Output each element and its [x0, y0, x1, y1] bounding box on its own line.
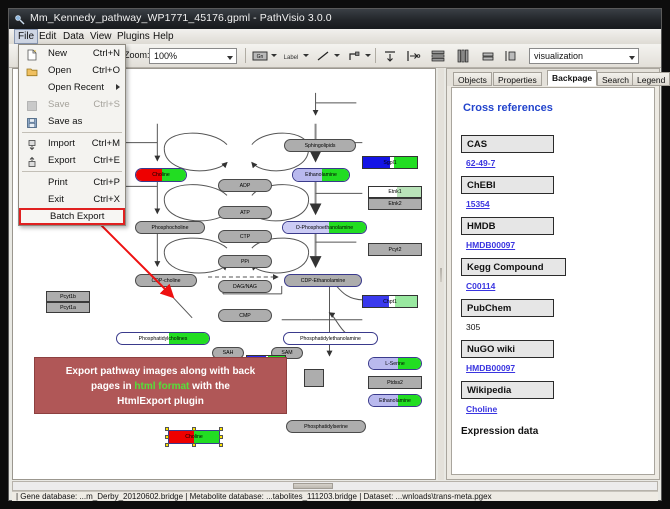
file-dropdown-menu: New Ctrl+N Open Ctrl+O Open Recent [18, 44, 126, 226]
window-title: Mm_Kennedy_pathway_WP1771_45176.gpml - P… [30, 12, 332, 24]
horizontal-scrollbar[interactable] [12, 481, 658, 491]
side-dock: Objects Properties Backpage Search Legen… [446, 68, 660, 480]
menu-separator [22, 132, 122, 133]
export-icon [26, 155, 38, 167]
xref-source-pubchem: PubChem [461, 299, 554, 317]
distribute-horizontal-tool-icon[interactable] [455, 48, 471, 64]
xref-source-hmdb: HMDB [461, 217, 554, 235]
annotation-line-2-post: with the [189, 381, 230, 392]
xref-source-kegg: Kegg Compound [461, 258, 566, 276]
annotation-highlight: html format [134, 381, 189, 392]
scrollbar-thumb[interactable] [293, 483, 333, 489]
status-text: | Gene database: ...m_Derby_20120602.bri… [16, 492, 492, 501]
menu-help[interactable]: Help [150, 30, 177, 43]
save-as-icon [26, 116, 38, 128]
open-folder-icon [26, 65, 38, 77]
line-dropdown-icon[interactable] [334, 54, 340, 57]
menu-file[interactable]: File [14, 29, 38, 44]
application-window: Mm_Kennedy_pathway_WP1771_45176.gpml - P… [8, 8, 662, 501]
backpage-panel: Cross references CAS 62-49-7 ChEBI 15354… [451, 87, 655, 475]
interaction-dropdown-icon[interactable] [365, 54, 371, 57]
interaction-tool-icon[interactable] [346, 48, 362, 64]
menu-separator [22, 171, 122, 172]
menu-item-save-as[interactable]: Save as [19, 113, 125, 130]
status-bar: | Gene database: ...m_Derby_20120602.bri… [12, 491, 658, 501]
title-bar: Mm_Kennedy_pathway_WP1771_45176.gpml - P… [9, 9, 661, 30]
xref-value-wikipedia[interactable]: Choline [466, 404, 497, 414]
menu-item-open-recent[interactable]: Open Recent [19, 79, 125, 96]
save-icon [26, 99, 38, 111]
import-icon [26, 138, 38, 150]
xref-value-nugo[interactable]: HMDB00097 [466, 363, 515, 373]
xref-value-hmdb[interactable]: HMDB00097 [466, 240, 515, 250]
label-dropdown-icon[interactable] [303, 54, 309, 57]
screenshot-root: Mm_Kennedy_pathway_WP1771_45176.gpml - P… [0, 0, 670, 509]
annotation-line-3: HtmlExport plugin [117, 396, 204, 407]
gene-product-tool-icon[interactable]: Gn [252, 48, 268, 64]
menu-item-import[interactable]: Import Ctrl+M [19, 135, 125, 152]
annotation-line-1: Export pathway images along with back [66, 366, 256, 377]
dock-tabstrip: Objects Properties Backpage Search Legen… [447, 69, 659, 86]
zoom-value: 100% [154, 51, 177, 61]
svg-text:Gn: Gn [257, 54, 264, 60]
tab-properties[interactable]: Properties [493, 72, 542, 86]
toolbar-separator [245, 48, 246, 63]
menu-item-export[interactable]: Export Ctrl+E [19, 152, 125, 169]
tab-backpage[interactable]: Backpage [547, 70, 597, 86]
menu-data[interactable]: Data [60, 30, 87, 43]
zoom-combobox[interactable]: 100% [149, 48, 237, 64]
xref-source-cas: CAS [461, 135, 554, 153]
expression-data-heading: Expression data [461, 426, 538, 437]
label-tool-icon[interactable]: Label [283, 48, 299, 64]
tab-search[interactable]: Search [597, 72, 634, 86]
svg-text:Label: Label [284, 55, 299, 61]
xref-value-kegg[interactable]: C00114 [466, 281, 495, 291]
pathvisio-icon [14, 13, 26, 25]
line-tool-icon[interactable] [315, 48, 331, 64]
menu-item-batch-export[interactable]: Batch Export [19, 208, 125, 225]
canvas-dock-splitter[interactable] [438, 68, 444, 480]
menu-item-save: Save Ctrl+S [19, 96, 125, 113]
menu-bar: File Edit Data View Plugins Help [9, 29, 661, 45]
menu-item-open[interactable]: Open Ctrl+O [19, 62, 125, 79]
same-width-tool-icon[interactable] [480, 48, 496, 64]
annotation-text: Export pathway images along with back pa… [41, 364, 280, 409]
menu-item-print[interactable]: Print Ctrl+P [19, 174, 125, 191]
annotation-callout: Export pathway images along with back pa… [34, 357, 287, 414]
gene-product-dropdown-icon[interactable] [271, 54, 277, 57]
xref-value-cas[interactable]: 62-49-7 [466, 158, 495, 168]
menu-plugins[interactable]: Plugins [114, 30, 153, 43]
chevron-down-icon [629, 56, 635, 60]
menu-item-exit[interactable]: Exit Ctrl+X [19, 191, 125, 208]
tab-objects[interactable]: Objects [453, 72, 492, 86]
same-height-tool-icon[interactable] [503, 48, 519, 64]
menu-view[interactable]: View [87, 30, 115, 43]
chevron-down-icon [227, 56, 233, 60]
align-top-tool-icon[interactable] [382, 48, 398, 64]
visualization-value: visualization [534, 51, 583, 61]
xref-source-chebi: ChEBI [461, 176, 554, 194]
toolbar-separator [375, 48, 376, 63]
xref-source-wikipedia: Wikipedia [461, 381, 554, 399]
distribute-vertical-tool-icon[interactable] [430, 48, 446, 64]
new-file-icon [26, 48, 38, 60]
visualization-combobox[interactable]: visualization [529, 48, 639, 64]
menu-edit[interactable]: Edit [36, 30, 59, 43]
xref-value-pubchem: 305 [466, 322, 480, 332]
zoom-label: Zoom: [124, 50, 150, 60]
xref-value-chebi[interactable]: 15354 [466, 199, 490, 209]
menu-item-new[interactable]: New Ctrl+N [19, 45, 125, 62]
align-left-tool-icon[interactable] [405, 48, 421, 64]
submenu-chevron-icon [116, 84, 120, 90]
annotation-line-2-pre: pages in [91, 381, 134, 392]
cross-references-heading: Cross references [463, 102, 553, 114]
tab-legend[interactable]: Legend [632, 72, 670, 86]
xref-source-nugo: NuGO wiki [461, 340, 554, 358]
